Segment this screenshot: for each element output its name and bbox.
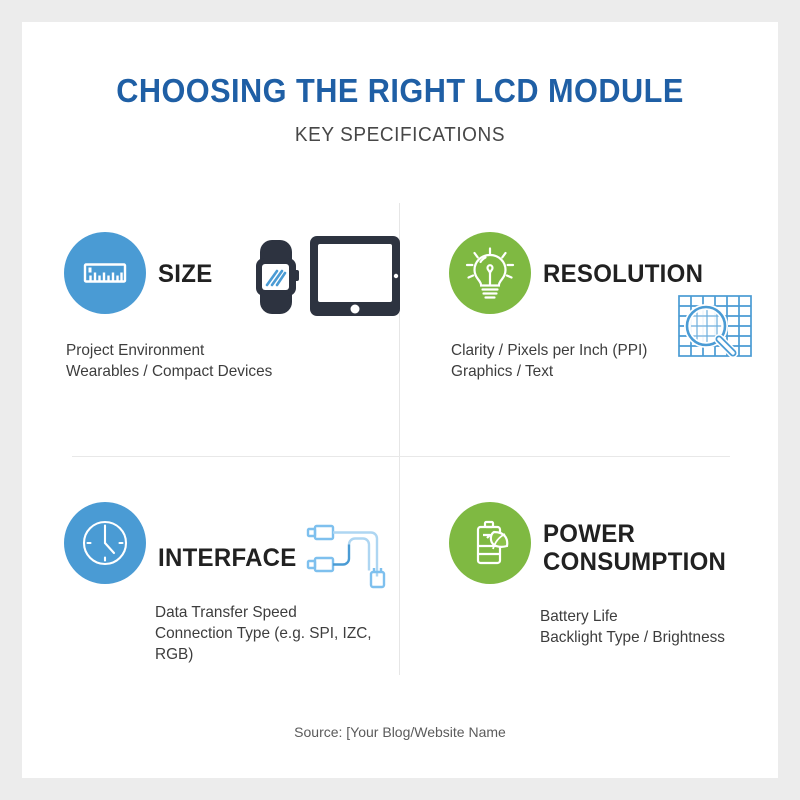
interface-badge xyxy=(64,502,146,584)
battery-leaf-icon xyxy=(449,502,531,584)
quadrant-size-title: SIZE xyxy=(158,260,213,288)
size-badge xyxy=(64,232,146,314)
quadrant-interface: INTERFACE xyxy=(48,502,408,665)
quadrant-power-title: POWER CONSUMPTION xyxy=(543,520,726,576)
quadrant-resolution-description: Clarity / Pixels per Inch (PPI) Graphics… xyxy=(451,340,765,382)
page-title: CHOOSING THE RIGHT LCD MODULE xyxy=(48,72,751,110)
quadrant-interface-title: INTERFACE xyxy=(158,544,297,572)
quadrant-size-header: SIZE xyxy=(48,232,398,316)
quadrant-interface-header: INTERFACE xyxy=(48,502,408,586)
tablet-and-smartwatch-icon xyxy=(248,234,408,325)
quadrant-power-description: Battery Life Backlight Type / Brightness xyxy=(540,606,768,648)
infographic-card: CHOOSING THE RIGHT LCD MODULE KEY SPECIF… xyxy=(22,22,778,778)
quadrant-resolution-title: RESOLUTION xyxy=(543,260,703,288)
quadrant-power-consumption: POWER CONSUMPTION Battery Life Backlight… xyxy=(433,502,778,648)
page-subtitle: KEY SPECIFICATIONS xyxy=(41,124,759,147)
lightbulb-icon xyxy=(449,232,531,314)
header: CHOOSING THE RIGHT LCD MODULE KEY SPECIF… xyxy=(22,22,778,147)
ruler-icon xyxy=(64,232,146,314)
source-credit: Source: [Your Blog/Website Name xyxy=(22,724,778,740)
quadrant-resolution-header: RESOLUTION xyxy=(433,232,778,316)
clock-icon xyxy=(64,502,146,584)
quadrant-interface-description: Data Transfer Speed Connection Type (e.g… xyxy=(155,602,398,665)
quadrant-power-header: POWER CONSUMPTION xyxy=(433,502,778,586)
horizontal-divider xyxy=(72,456,730,457)
quadrant-size-description: Project Environment Wearables / Compact … xyxy=(66,340,385,382)
usb-cable-icon xyxy=(303,518,408,595)
power-badge xyxy=(449,502,531,584)
quadrant-size: SIZE xyxy=(48,232,398,382)
resolution-badge xyxy=(449,232,531,314)
quadrant-resolution: RESOLUTION xyxy=(433,232,778,382)
